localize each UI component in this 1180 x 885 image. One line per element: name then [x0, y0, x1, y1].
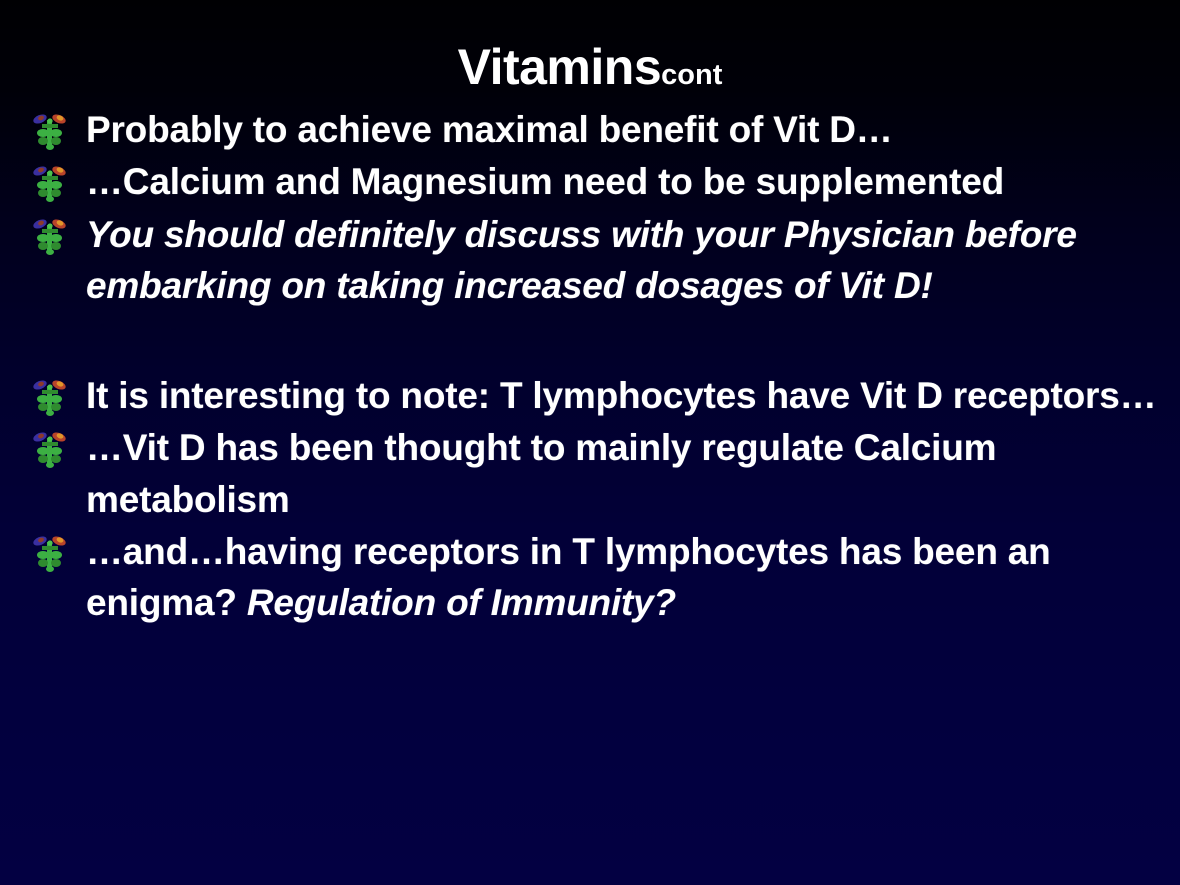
- list-item: Probably to achieve maximal benefit of V…: [30, 104, 1165, 155]
- page-title: Vitaminscont: [0, 42, 1180, 92]
- flower-bullet-icon: [30, 215, 70, 257]
- bullet-list: Probably to achieve maximal benefit of V…: [30, 104, 1165, 630]
- list-item-text: …Vit D has been thought to mainly regula…: [86, 422, 1165, 525]
- list-item-text: It is interesting to note: T lymphocytes…: [86, 370, 1165, 421]
- list-item: …and…having receptors in T lymphocytes h…: [30, 526, 1165, 629]
- list-item-text-emphasis: Regulation of Immunity?: [247, 582, 676, 623]
- flower-bullet-icon: [30, 110, 70, 152]
- flower-bullet-icon: [30, 376, 70, 418]
- page-title-sub: cont: [661, 59, 722, 91]
- list-item-text: …Calcium and Magnesium need to be supple…: [86, 156, 1165, 207]
- list-item: You should definitely discuss with your …: [30, 209, 1165, 312]
- list-item-text: Probably to achieve maximal benefit of V…: [86, 104, 1165, 155]
- page-title-main: Vitamins: [458, 39, 662, 95]
- flower-bullet-icon: [30, 428, 70, 470]
- flower-bullet-icon: [30, 162, 70, 204]
- list-item: It is interesting to note: T lymphocytes…: [30, 370, 1165, 421]
- presentation-slide: Vitaminscont: [0, 0, 1180, 885]
- flower-bullet-icon: [30, 532, 70, 574]
- list-item-text: …and…having receptors in T lymphocytes h…: [86, 526, 1165, 629]
- list-item-text: You should definitely discuss with your …: [86, 209, 1165, 312]
- list-item: …Vit D has been thought to mainly regula…: [30, 422, 1165, 525]
- list-item: …Calcium and Magnesium need to be supple…: [30, 156, 1165, 207]
